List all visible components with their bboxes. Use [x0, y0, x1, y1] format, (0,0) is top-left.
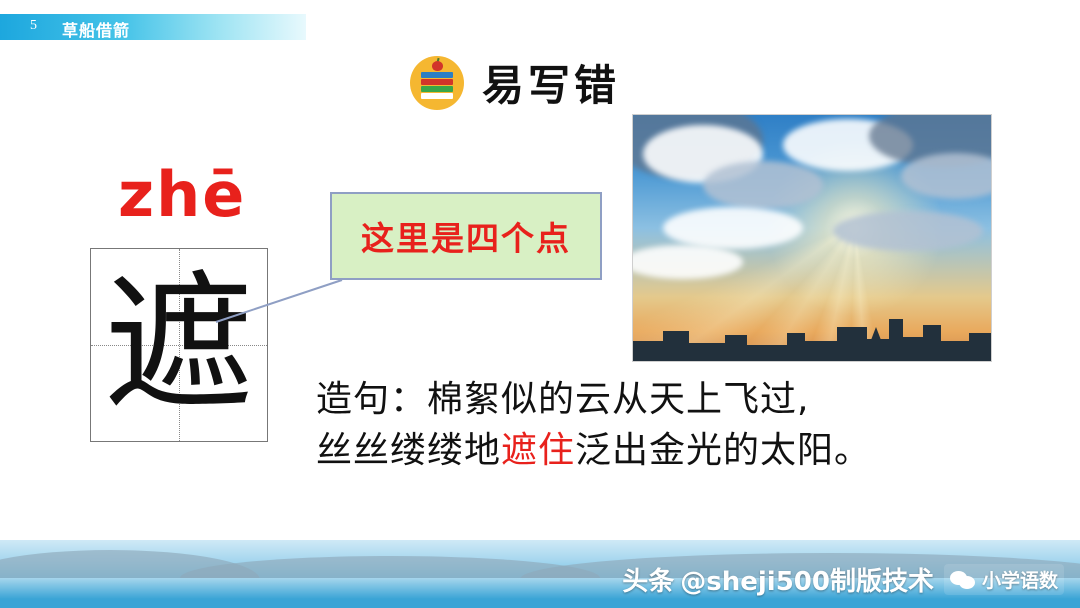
watermark: 头条 @sheji500制版技术 小学语数	[622, 561, 1064, 598]
watermark-label: 头条	[622, 561, 674, 598]
watermark-wechat-name: 小学语数	[982, 566, 1058, 593]
wechat-bubble-2	[959, 576, 975, 589]
callout-text: 这里是四个点	[361, 212, 571, 260]
cloud-7	[663, 207, 803, 249]
book-apple-icon	[410, 56, 464, 110]
book-layer-3	[421, 86, 453, 92]
sentence-line-2: 丝丝缕缕地遮住泛出金光的太阳。	[316, 425, 996, 476]
building-15	[633, 351, 992, 361]
sunbeam-clouds-city-skyline-photo	[632, 114, 992, 362]
sentence-highlight: 遮住	[501, 430, 575, 471]
page-title: 易写错	[482, 52, 620, 113]
watermark-wechat-chip: 小学语数	[944, 564, 1064, 595]
photo-skyline	[633, 299, 991, 361]
watermark-handle: @sheji500制版技术	[680, 561, 934, 598]
character-grid-box: 遮	[90, 248, 268, 442]
header-lesson-number: 5	[30, 18, 37, 34]
character-glyph: 遮	[91, 270, 267, 420]
example-sentence: 造句：棉絮似的云从天上飞过, 丝丝缕缕地遮住泛出金光的太阳。	[316, 374, 996, 476]
sentence-line-1: 造句：棉絮似的云从天上飞过,	[316, 374, 996, 425]
book-layer-2	[421, 79, 453, 85]
wechat-icon	[950, 569, 976, 591]
apple-shape	[432, 61, 443, 71]
callout-note: 这里是四个点	[330, 192, 602, 280]
header-bar	[0, 14, 306, 40]
header-lesson-title: 草船借箭	[62, 17, 130, 41]
cloud-3	[703, 161, 823, 209]
sentence-line-2-after: 泛出金光的太阳。	[575, 430, 871, 471]
cloud-8	[833, 211, 983, 251]
book-layer-4	[421, 93, 453, 99]
sentence-line-2-before: 丝丝缕缕地	[316, 430, 501, 471]
title-row: 易写错	[410, 52, 620, 113]
pinyin-label: zhē	[118, 158, 246, 231]
slide-root: 5 草船借箭 易写错 zhē 遮 这里是四个点	[0, 0, 1080, 608]
book-layer-1	[421, 72, 453, 78]
